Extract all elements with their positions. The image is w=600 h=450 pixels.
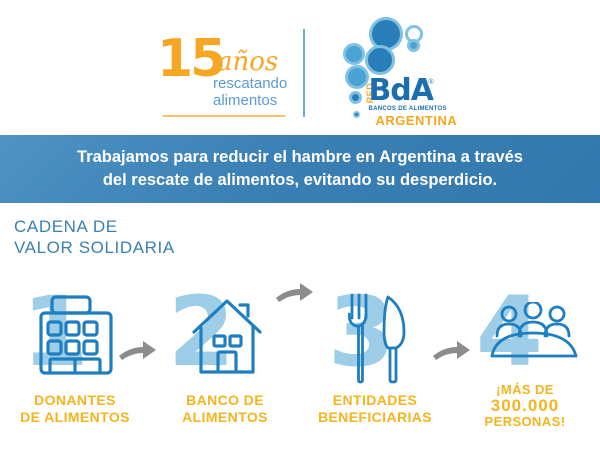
bda-logo: RED BdA ® BANCOS DE ALIMENTOS ARGENTINA [327,17,455,129]
bubble-icon [407,39,420,52]
arrow-icon [118,338,158,369]
chain-step-art: 3 [300,278,450,390]
anniversary-rescatando-text: rescatando [213,75,287,92]
chain-step-art: 1 [0,278,150,390]
step-label-line2: BENEFICIARIAS [300,409,450,426]
mission-banner-text: Trabajamos para reducir el hambre en Arg… [10,146,590,192]
chain-step-personas: 4 ¡MÁS DE 300.000 [450,278,600,450]
step-label-line1: BANCO DE [186,392,264,408]
step-label: DONANTES DE ALIMENTOS [0,392,150,426]
section-title-line2: VALOR SOLIDARIA [14,237,175,258]
arrow-icon [432,338,472,369]
anniversary-logo: 15 años rescatando alimentos [155,23,287,123]
step-label: ENTIDADES BENEFICIARIAS [300,392,450,426]
mission-banner-line2: del rescate de alimentos, evitando su de… [10,169,590,192]
anniversary-anos-text: años [217,49,278,75]
bda-main-text: BdA [368,76,433,106]
step-label-line1: ¡MÁS DE [496,382,554,397]
bda-country-text: ARGENTINA [375,114,457,128]
house-icon [190,292,264,381]
bda-wordmark: RED BdA ® BANCOS DE ALIMENTOS ARGENTINA [355,79,455,129]
step-label-line3: PERSONAS! [450,414,600,430]
step-label-line1: DONANTES [34,392,116,408]
step-label-line2: 300.000 [450,398,600,414]
cutlery-icon [348,292,408,389]
anniversary-underline [163,115,285,117]
bda-registered-mark: ® [428,79,433,86]
building-icon [38,292,114,381]
step-label: ¡MÁS DE 300.000 PERSONAS! [450,382,600,430]
bubble-icon [343,43,365,65]
step-label-line2: ALIMENTOS [150,409,300,426]
bda-subtitle-text: BANCOS DE ALIMENTOS [368,106,446,113]
people-icon [490,302,578,367]
chain-step-art: 4 [450,278,600,390]
section-title: CADENA DE VALOR SOLIDARIA [14,216,175,258]
logo-group: 15 años rescatando alimentos RED BdA ® B… [155,18,455,128]
step-label: BANCO DE ALIMENTOS [150,392,300,426]
arrow-icon [275,280,315,311]
bubble-icon [365,45,395,75]
step-label-line2: DE ALIMENTOS [0,409,150,426]
step-label-line1: ENTIDADES [333,392,418,408]
logo-divider [303,29,305,117]
mission-banner-line1: Trabajamos para reducir el hambre en Arg… [77,148,523,166]
header: 15 años rescatando alimentos RED BdA ® B… [0,0,600,135]
anniversary-alimentos-text: alimentos [213,92,277,109]
mission-banner: Trabajamos para reducir el hambre en Arg… [0,135,600,203]
chain-step-entidades: 3 ENTIDADES [300,278,450,450]
section-title-line1: CADENA DE [14,217,118,236]
